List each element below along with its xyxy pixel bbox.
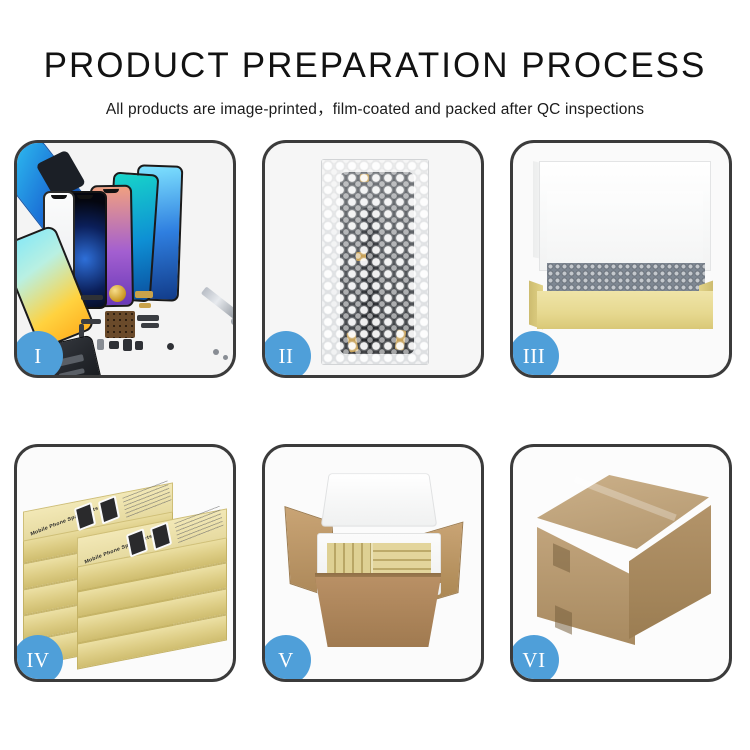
- bubble-wrap-filler: [547, 263, 705, 293]
- box-label-spec-lines: [122, 480, 171, 518]
- step-badge-3: III: [510, 331, 559, 378]
- step-badge-5: V: [262, 635, 311, 682]
- ic-chip-grid-part: [105, 311, 135, 338]
- box-label-phone-image: [126, 528, 148, 558]
- step-badge-6: VI: [510, 635, 559, 682]
- spare-part: [109, 341, 119, 349]
- bubble-wrap-bag: [321, 159, 429, 365]
- step-panel-4[interactable]: Mobile Phone Spare Parts Mobile Phone Sp…: [14, 444, 236, 682]
- step-panel-6[interactable]: VI: [510, 444, 732, 682]
- screw-part: [223, 355, 228, 360]
- box-label-spec-lines: [174, 506, 223, 544]
- foam-sheet: [547, 191, 703, 263]
- notch-icon: [51, 195, 67, 199]
- screw-part: [213, 349, 219, 355]
- step-panel-1[interactable]: I: [14, 140, 236, 378]
- step-panel-2[interactable]: II: [262, 140, 484, 378]
- box-label-phone-image: [98, 495, 120, 525]
- spare-part: [81, 295, 103, 300]
- poster-root: PRODUCT PREPARATION PROCESS All products…: [0, 0, 750, 750]
- step-badge-4: IV: [14, 635, 63, 682]
- step-panel-3[interactable]: III: [510, 140, 732, 378]
- sealed-carton: [529, 469, 719, 659]
- screwdriver-icon: [201, 286, 233, 320]
- spare-part: [167, 343, 174, 350]
- carton-body: [315, 577, 441, 647]
- carton-left-face: [537, 527, 635, 645]
- header: PRODUCT PREPARATION PROCESS All products…: [0, 0, 750, 119]
- foam-lid: [321, 473, 438, 526]
- flex-cable-part: [141, 323, 159, 328]
- kraft-box-front: [537, 291, 713, 329]
- step-badge-1: I: [14, 331, 63, 378]
- spare-part: [97, 339, 104, 350]
- box-label-phone-image: [150, 521, 172, 551]
- speaker-coin-part: [109, 285, 126, 302]
- spare-part: [123, 339, 132, 351]
- spare-part: [139, 303, 151, 308]
- spare-part: [135, 341, 143, 350]
- page-title: PRODUCT PREPARATION PROCESS: [0, 48, 750, 83]
- step-badge-2: II: [262, 331, 311, 378]
- process-grid: I II: [14, 140, 736, 688]
- notch-icon: [77, 195, 93, 199]
- bubble-texture: [322, 160, 428, 364]
- step-panel-5[interactable]: V: [262, 444, 484, 682]
- notch-icon: [103, 189, 119, 193]
- flex-cable-part: [81, 319, 101, 324]
- page-subtitle: All products are image-printed，film-coat…: [0, 97, 750, 119]
- flex-cable-part: [137, 315, 159, 321]
- spare-part: [135, 291, 153, 298]
